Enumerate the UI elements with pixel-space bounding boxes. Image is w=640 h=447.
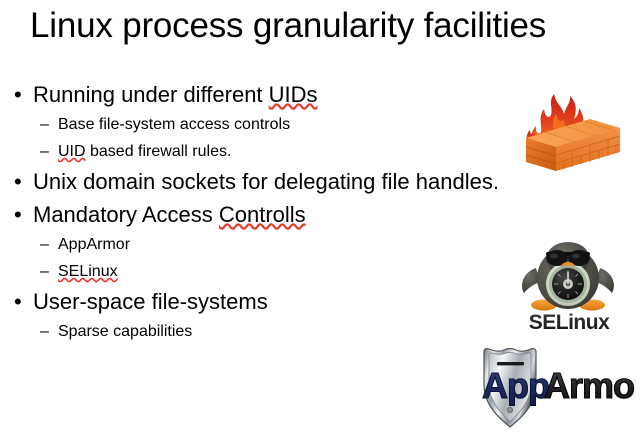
bullet-marker: • — [14, 198, 22, 231]
bullet-text: User-space file-systems — [33, 289, 268, 314]
bullet-text: Running under different UIDs — [33, 82, 318, 107]
selinux-wordmark: SELinux — [529, 311, 610, 334]
apparmor-logo: App Armor — [440, 344, 636, 434]
sub-bullet-text: AppArmor — [58, 236, 130, 253]
sub-bullet-text: Sparse capabilities — [58, 323, 192, 340]
firewall-icon — [512, 86, 626, 174]
bullet-item: • Mandatory Access Controlls — [0, 198, 540, 231]
bullet-item: • Unix domain sockets for delegating fil… — [0, 165, 540, 198]
bullet-text: Unix domain sockets for delegating file … — [33, 169, 499, 194]
apparmor-word-armor: Armor — [544, 365, 636, 406]
sub-bullet-text: UID based firewall rules. — [58, 143, 231, 160]
presentation-slide: Linux process granularity facilities • R… — [0, 0, 640, 447]
misspelled-word: Controlls — [219, 202, 306, 227]
shield-rivet — [507, 407, 512, 412]
sub-bullet-marker: – — [40, 231, 49, 258]
bullet-item: • User-space file-systems — [0, 285, 540, 318]
sub-bullet-item: – AppArmor — [0, 231, 540, 258]
bullet-marker: • — [14, 78, 22, 111]
sub-bullet-item: – UID based firewall rules. — [0, 138, 540, 165]
sub-bullet-item: – SELinux — [0, 258, 540, 285]
apparmor-word-app: App — [482, 365, 549, 406]
sub-bullet-marker: – — [40, 111, 49, 138]
firewall-wall — [526, 119, 620, 171]
slide-title: Linux process granularity facilities — [30, 4, 610, 48]
misspelled-word: SELinux — [58, 263, 118, 280]
sub-bullet-text: SELinux — [58, 263, 118, 280]
sub-bullet-marker: – — [40, 258, 49, 285]
misspelled-word: UIDs — [269, 82, 318, 107]
sub-bullet-item: – Sparse capabilities — [0, 318, 540, 345]
slide-body-outline: • Running under different UIDs – Base fi… — [0, 78, 540, 345]
bullet-marker: • — [14, 165, 22, 198]
sub-bullet-item: – Base file-system access controls — [0, 111, 540, 138]
bullet-item: • Running under different UIDs — [0, 78, 540, 111]
bullet-marker: • — [14, 285, 22, 318]
bullet-text: Mandatory Access Controlls — [33, 202, 306, 227]
sub-bullet-text: Base file-system access controls — [58, 116, 290, 133]
sub-bullet-marker: – — [40, 138, 49, 165]
sub-bullet-marker: – — [40, 318, 49, 345]
safe-dial-icon — [549, 265, 587, 303]
misspelled-word: UID — [58, 143, 86, 160]
selinux-logo: SELinux — [508, 240, 630, 334]
